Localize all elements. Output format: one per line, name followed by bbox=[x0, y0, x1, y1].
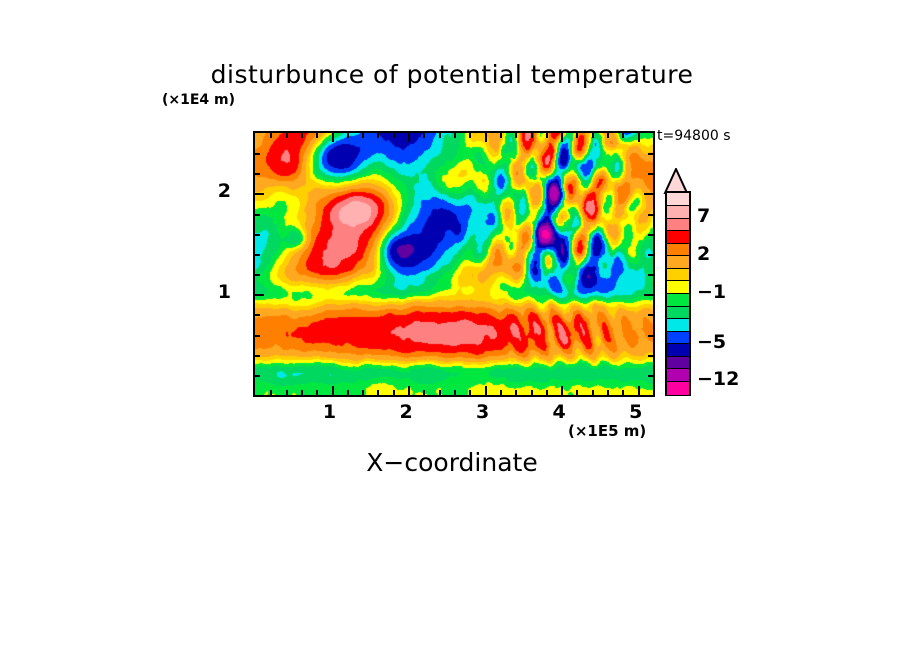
colorbar-divider bbox=[667, 381, 689, 382]
tick-mark bbox=[316, 390, 318, 395]
colorbar-divider bbox=[667, 368, 689, 369]
tick-mark bbox=[638, 386, 640, 395]
tick-mark bbox=[362, 133, 364, 138]
contour-field bbox=[255, 133, 653, 395]
tick-mark bbox=[648, 274, 653, 276]
tick-mark bbox=[500, 390, 502, 395]
tick-mark bbox=[255, 335, 260, 337]
tick-mark bbox=[592, 133, 594, 138]
tick-mark bbox=[622, 133, 624, 138]
colorbar-divider bbox=[667, 318, 689, 319]
tick-mark bbox=[255, 314, 260, 316]
colorbar-segment bbox=[667, 381, 689, 394]
timestamp-label: t=94800 s bbox=[657, 128, 731, 144]
tick-mark bbox=[393, 133, 395, 138]
tick-mark bbox=[270, 390, 272, 395]
x-tick-label: 2 bbox=[399, 401, 412, 423]
tick-mark bbox=[377, 133, 379, 138]
x-tick-label: 3 bbox=[476, 401, 489, 423]
tick-mark bbox=[301, 133, 303, 138]
tick-mark bbox=[439, 133, 441, 138]
colorbar-tick-label: −12 bbox=[697, 368, 739, 390]
tick-mark bbox=[648, 173, 653, 175]
tick-mark bbox=[408, 133, 410, 142]
tick-mark bbox=[648, 234, 653, 236]
x-axis-label: X−coordinate bbox=[366, 448, 537, 477]
tick-mark bbox=[561, 386, 563, 395]
tick-mark bbox=[255, 294, 264, 296]
colorbar-divider bbox=[667, 268, 689, 269]
tick-mark bbox=[255, 234, 260, 236]
tick-mark bbox=[531, 133, 533, 138]
tick-mark bbox=[270, 133, 272, 138]
tick-mark bbox=[546, 390, 548, 395]
tick-mark bbox=[255, 274, 260, 276]
tick-mark bbox=[531, 390, 533, 395]
tick-mark bbox=[377, 390, 379, 395]
tick-mark bbox=[648, 314, 653, 316]
contour-plot-figure: disturbunce of potential temperature (×1… bbox=[0, 0, 904, 654]
tick-mark bbox=[408, 386, 410, 395]
tick-mark bbox=[576, 133, 578, 138]
colorbar-tick-label: −5 bbox=[697, 331, 726, 353]
tick-mark bbox=[423, 133, 425, 138]
tick-mark bbox=[332, 133, 334, 142]
y-tick-label: 1 bbox=[218, 281, 231, 303]
tick-mark bbox=[255, 214, 260, 216]
tick-mark bbox=[362, 390, 364, 395]
x-tick-label: 1 bbox=[323, 401, 336, 423]
tick-mark bbox=[607, 133, 609, 138]
tick-mark bbox=[561, 133, 563, 142]
tick-mark bbox=[301, 390, 303, 395]
colorbar-divider bbox=[667, 293, 689, 294]
tick-mark bbox=[648, 355, 653, 357]
tick-mark bbox=[515, 390, 517, 395]
x-tick-label: 4 bbox=[553, 401, 566, 423]
tick-mark bbox=[255, 254, 260, 256]
tick-mark bbox=[255, 375, 260, 377]
colorbar-divider bbox=[667, 280, 689, 281]
colorbar-divider bbox=[667, 218, 689, 219]
tick-mark bbox=[607, 390, 609, 395]
tick-mark bbox=[648, 375, 653, 377]
tick-mark bbox=[644, 294, 653, 296]
tick-mark bbox=[347, 390, 349, 395]
tick-mark bbox=[423, 390, 425, 395]
tick-mark bbox=[255, 153, 260, 155]
plot-area bbox=[253, 131, 655, 397]
tick-mark bbox=[485, 133, 487, 142]
tick-mark bbox=[316, 133, 318, 138]
tick-mark bbox=[515, 133, 517, 138]
x-tick-label: 5 bbox=[629, 401, 642, 423]
tick-mark bbox=[454, 390, 456, 395]
colorbar-divider bbox=[667, 356, 689, 357]
tick-mark bbox=[469, 133, 471, 138]
tick-mark bbox=[255, 355, 260, 357]
colorbar-tick-label: −1 bbox=[697, 281, 726, 303]
colorbar-divider bbox=[667, 343, 689, 344]
tick-mark bbox=[644, 193, 653, 195]
tick-mark bbox=[255, 193, 264, 195]
colorbar bbox=[665, 191, 691, 396]
colorbar-divider bbox=[667, 306, 689, 307]
tick-mark bbox=[454, 133, 456, 138]
tick-mark bbox=[347, 133, 349, 138]
colorbar-divider bbox=[667, 331, 689, 332]
colorbar-divider bbox=[667, 205, 689, 206]
tick-mark bbox=[255, 173, 260, 175]
tick-mark bbox=[286, 390, 288, 395]
tick-mark bbox=[485, 386, 487, 395]
tick-mark bbox=[546, 133, 548, 138]
tick-mark bbox=[638, 133, 640, 142]
colorbar-divider bbox=[667, 230, 689, 231]
colorbar-divider bbox=[667, 255, 689, 256]
tick-mark bbox=[622, 390, 624, 395]
vertical-axis-unit: (×1E4 m) bbox=[162, 92, 235, 108]
tick-mark bbox=[592, 390, 594, 395]
tick-mark bbox=[469, 390, 471, 395]
tick-mark bbox=[332, 386, 334, 395]
tick-mark bbox=[439, 390, 441, 395]
tick-mark bbox=[576, 390, 578, 395]
tick-mark bbox=[500, 133, 502, 138]
page-title: disturbunce of potential temperature bbox=[211, 60, 694, 89]
horizontal-axis-unit: (×1E5 m) bbox=[568, 422, 646, 440]
tick-mark bbox=[286, 133, 288, 138]
tick-mark bbox=[393, 390, 395, 395]
tick-mark bbox=[648, 153, 653, 155]
tick-mark bbox=[648, 214, 653, 216]
colorbar-tick-label: 7 bbox=[697, 205, 710, 227]
tick-mark bbox=[648, 254, 653, 256]
colorbar-divider bbox=[667, 243, 689, 244]
colorbar-tick-label: 2 bbox=[697, 243, 710, 265]
y-tick-label: 2 bbox=[218, 180, 231, 202]
tick-mark bbox=[648, 335, 653, 337]
